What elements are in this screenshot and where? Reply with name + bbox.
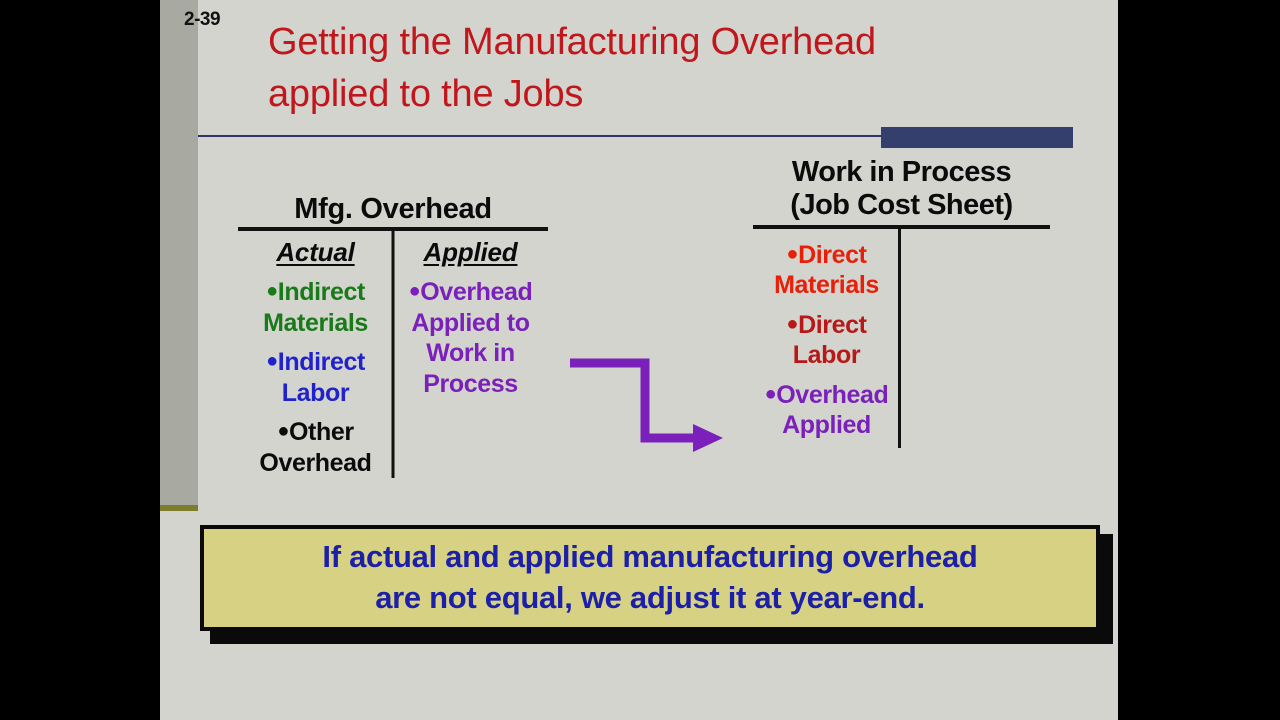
bullet-icon: ●	[266, 280, 278, 302]
list-item: ●Indirect Labor	[238, 347, 393, 408]
slide-number: 2-39	[184, 9, 220, 31]
bullet-icon: ●	[786, 313, 798, 335]
bullet-icon: ●	[765, 383, 777, 405]
left-decorative-band	[160, 0, 198, 505]
slide-canvas: 2-39 Getting the Manufacturing Overhead …	[160, 0, 1118, 720]
bullet-icon: ●	[786, 243, 798, 265]
callout-banner-text: If actual and applied manufacturing over…	[312, 537, 987, 619]
bullet-icon: ●	[409, 280, 421, 302]
left-band-footer-accent	[160, 505, 198, 511]
callout-banner-line-1: If actual and applied manufacturing over…	[322, 537, 977, 578]
presentation-slide: 2-39 Getting the Manufacturing Overhead …	[0, 0, 1280, 720]
list-item: ●Overhead Applied	[753, 380, 900, 441]
mfg-overhead-t-account: Mfg. Overhead Actual ●Indirect Materials…	[238, 194, 548, 478]
page-title-line-1: Getting the Manufacturing Overhead	[268, 16, 1068, 68]
list-item: ●Other Overhead	[238, 417, 393, 478]
list-item: ●Direct Materials	[753, 240, 900, 301]
overhead-applied-flow-arrow	[565, 350, 730, 455]
work-in-process-title: Work in Process (Job Cost Sheet)	[753, 156, 1050, 222]
list-item-label: Direct Labor	[793, 311, 867, 370]
list-item: ●Indirect Materials	[238, 277, 393, 338]
callout-banner-line-2: are not equal, we adjust it at year-end.	[322, 578, 977, 619]
mfg-overhead-title: Mfg. Overhead	[238, 194, 548, 224]
bullet-icon: ●	[277, 420, 289, 442]
mfg-overhead-applied-column: Applied ●Overhead Applied to Work in Pro…	[393, 231, 548, 478]
list-item-label: Indirect Materials	[263, 278, 368, 337]
work-in-process-title-line-1: Work in Process	[753, 156, 1050, 189]
list-item-label: Indirect Labor	[278, 348, 365, 407]
work-in-process-t-account: Work in Process (Job Cost Sheet) ●Direct…	[753, 156, 1050, 451]
list-item: ●Direct Labor	[753, 310, 900, 371]
page-title: Getting the Manufacturing Overhead appli…	[268, 16, 1068, 121]
bullet-icon: ●	[266, 350, 278, 372]
title-divider-rule	[198, 135, 881, 137]
work-in-process-debit-column: ●Direct Materials ●Direct Labor ●Overhea…	[753, 229, 900, 441]
list-item-label: Overhead Applied to Work in Process	[411, 278, 532, 398]
callout-banner: If actual and applied manufacturing over…	[200, 525, 1100, 631]
flow-arrow-icon	[565, 350, 730, 455]
mfg-overhead-actual-column: Actual ●Indirect Materials ●Indirect Lab…	[238, 231, 393, 478]
list-item-label: Overhead Applied	[776, 381, 888, 440]
list-item: ●Overhead Applied to Work in Process	[393, 277, 548, 399]
mfg-overhead-actual-header: Actual	[238, 237, 393, 268]
mfg-overhead-applied-header: Applied	[393, 237, 548, 268]
work-in-process-columns: ●Direct Materials ●Direct Labor ●Overhea…	[753, 229, 1050, 451]
mfg-overhead-center-divider	[392, 231, 395, 478]
work-in-process-center-divider	[898, 229, 901, 448]
mfg-overhead-columns: Actual ●Indirect Materials ●Indirect Lab…	[238, 231, 548, 478]
work-in-process-title-line-2: (Job Cost Sheet)	[753, 189, 1050, 222]
title-accent-block	[881, 127, 1073, 148]
page-title-line-2: applied to the Jobs	[268, 68, 1068, 120]
